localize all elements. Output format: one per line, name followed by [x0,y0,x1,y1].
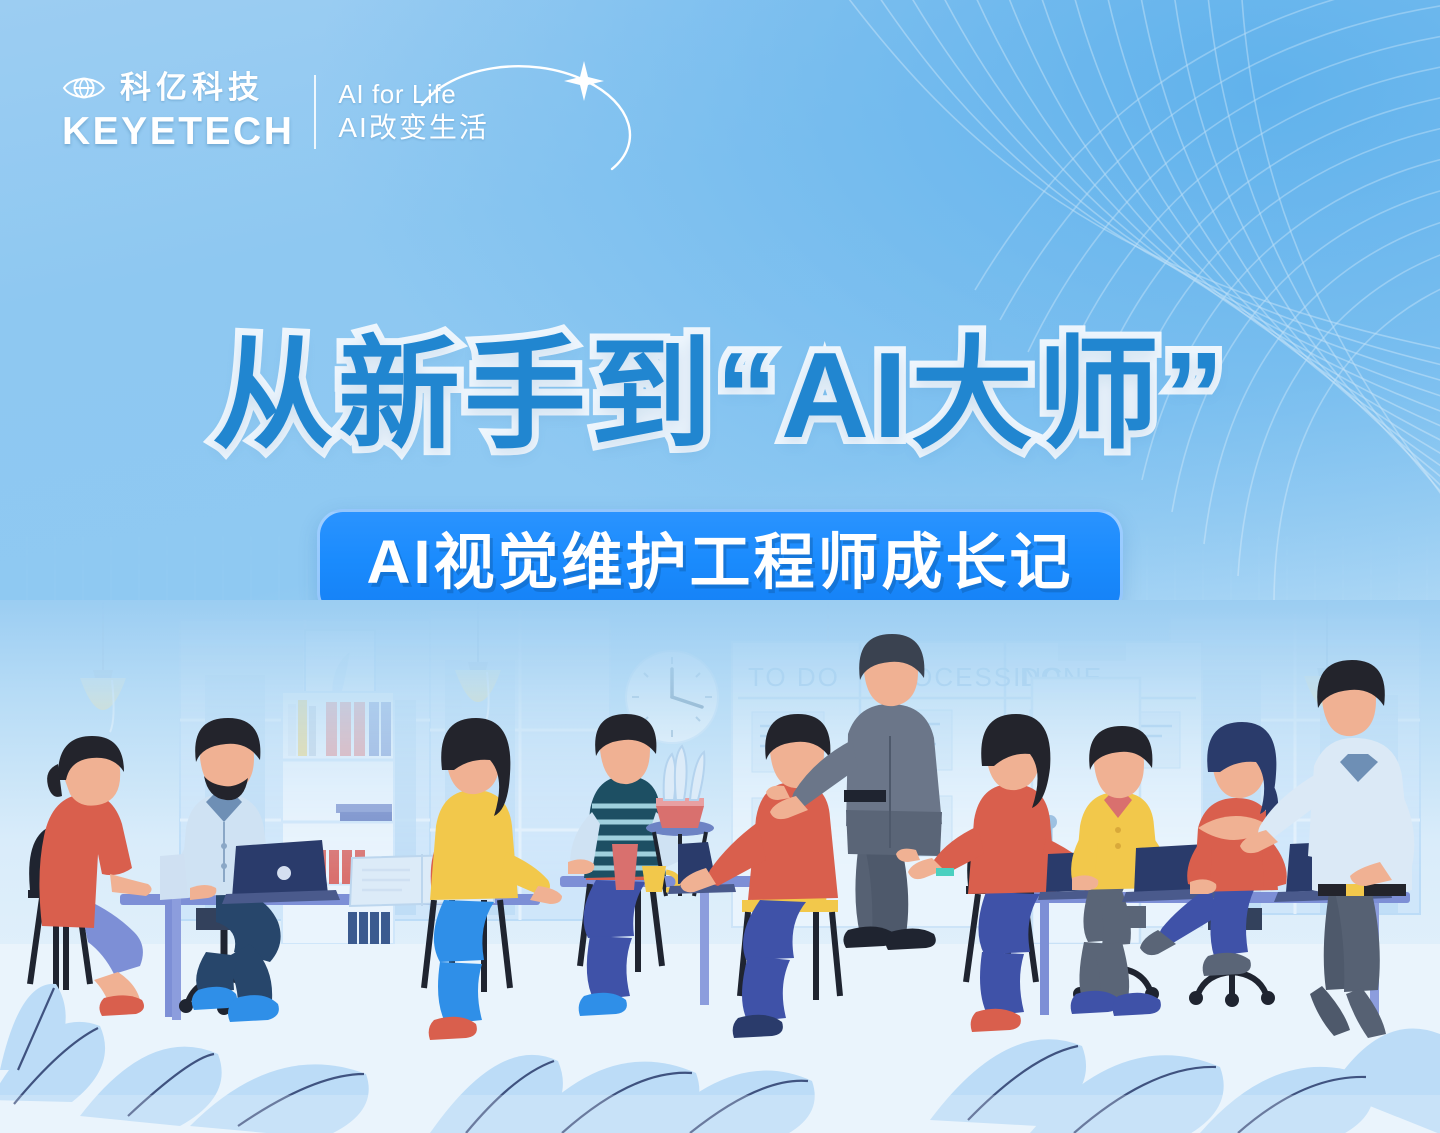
hero-subtitle-text: AI视觉维护工程师成长记 [366,532,1073,593]
brand-slogan-cn: AI改变生活 [338,114,488,142]
hero-headline: 从新手到“AI大师” [0,330,1440,462]
poster-canvas: 科亿科技 KEYETECH AI for Life AI改变生活 从新手到“AI… [0,0,1440,1133]
brand-slogan-en: AI for Life [338,81,488,107]
brand-logo-row-cn: 科亿科技 [62,72,264,103]
brand-logo[interactable]: 科亿科技 KEYETECH AI for Life AI改变生活 [62,72,565,151]
office-illustration: TO DO PROCESSING DONE [0,600,1440,1133]
eye-mark-icon [62,73,106,103]
brand-logo-left: 科亿科技 KEYETECH [62,72,294,151]
brand-name-cn: 科亿科技 [120,72,264,103]
kanban-col-todo: TO DO [748,662,840,692]
brand-name-en: KEYETECH [62,112,294,151]
brand-slogan-block: AI for Life AI改变生活 [338,81,564,142]
sparkle-star-icon [564,61,604,101]
logo-divider [314,75,316,149]
